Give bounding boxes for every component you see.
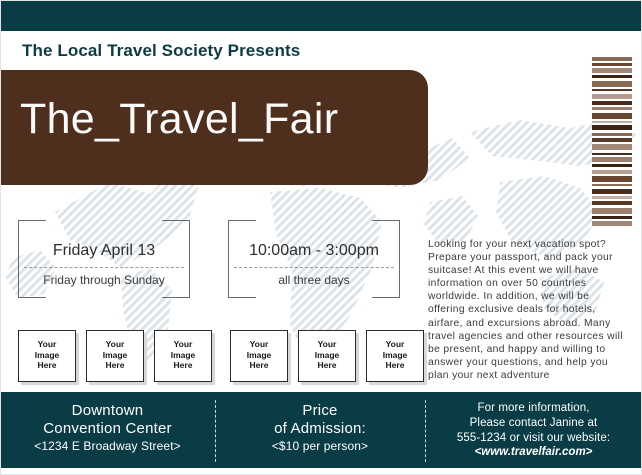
image-placeholder[interactable]: YourImageHere — [154, 330, 212, 382]
box-corner-top-right — [162, 220, 190, 221]
time-info-box: 10:00am - 3:00pm all three days — [228, 220, 400, 298]
box-corner-top-left — [228, 220, 256, 221]
box-corner-bottom-left — [228, 297, 256, 298]
contact-line-2: Please contact Janine at — [425, 416, 642, 431]
image-placeholder[interactable]: YourImageHere — [230, 330, 288, 382]
image-placeholder-strip: YourImageHereYourImageHereYourImageHereY… — [18, 330, 418, 386]
venue-line-2: Convention Center — [0, 420, 215, 438]
image-placeholder-label: YourImageHere — [155, 339, 211, 371]
image-placeholder-label: YourImageHere — [231, 339, 287, 371]
top-accent-band — [0, 0, 642, 31]
event-ticket-flyer: The Local Travel Society Presents — [0, 0, 642, 475]
image-placeholder[interactable]: YourImageHere — [366, 330, 424, 382]
image-placeholder-label: YourImageHere — [367, 339, 423, 371]
event-date: Friday April 13 — [18, 242, 190, 260]
box-corner-bottom-right — [372, 297, 400, 298]
info-divider — [234, 267, 394, 268]
image-placeholder-label: YourImageHere — [19, 339, 75, 371]
image-placeholder[interactable]: YourImageHere — [18, 330, 76, 382]
image-placeholder[interactable]: YourImageHere — [86, 330, 144, 382]
box-corner-top-left — [18, 220, 46, 221]
box-corner-bottom-left — [18, 297, 46, 298]
info-divider — [24, 267, 184, 268]
event-date-detail: Friday through Sunday — [18, 273, 190, 287]
image-placeholder-label: YourImageHere — [87, 339, 143, 371]
price-value: <$10 per person> — [215, 438, 425, 454]
presenter-text: The Local Travel Society Presents — [22, 41, 300, 61]
box-corner-top-right — [372, 220, 400, 221]
price-line-1: Price — [215, 402, 425, 420]
contact-website[interactable]: <www.travelfair.com> — [425, 446, 642, 458]
contact-line-3: 555-1234 or visit our website: — [425, 431, 642, 446]
event-time-detail: all three days — [228, 273, 400, 287]
barcode — [592, 57, 632, 227]
footer-contact-column: For more information, Please contact Jan… — [425, 392, 642, 468]
event-description: Looking for your next vacation spot? Pre… — [428, 238, 624, 382]
footer-price-column: Price of Admission: <$10 per person> — [215, 392, 425, 468]
venue-line-1: Downtown — [0, 402, 215, 420]
contact-line-1: For more information, — [425, 401, 642, 416]
barcode-bar — [592, 226, 632, 227]
event-time: 10:00am - 3:00pm — [228, 242, 400, 260]
image-placeholder[interactable]: YourImageHere — [298, 330, 356, 382]
venue-address: <1234 E Broadway Street> — [0, 438, 215, 454]
price-line-2: of Admission: — [215, 420, 425, 438]
box-corner-bottom-right — [162, 297, 190, 298]
image-placeholder-label: YourImageHere — [299, 339, 355, 371]
footer-venue-column: Downtown Convention Center <1234 E Broad… — [0, 392, 215, 468]
event-title: The_Travel_Fair — [20, 95, 430, 144]
date-info-box: Friday April 13 Friday through Sunday — [18, 220, 190, 298]
